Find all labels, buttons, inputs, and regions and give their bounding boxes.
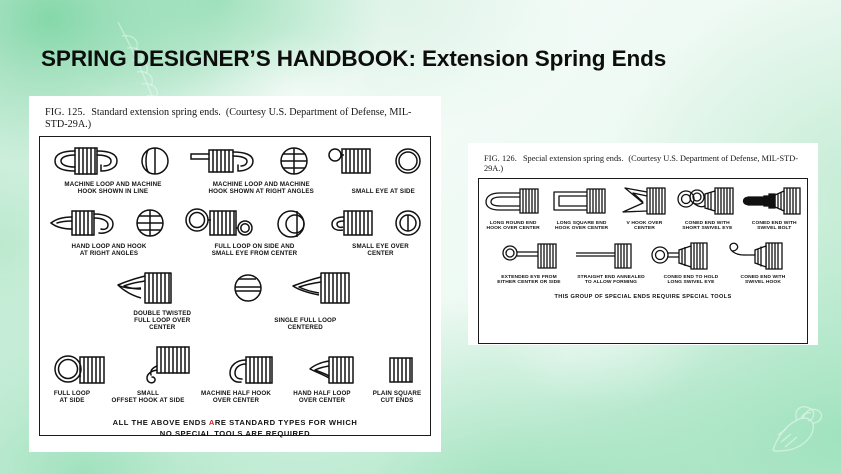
coned-end-short-swivel-eye-icon — [675, 184, 737, 218]
figure-item-straight-end-annealed — [573, 240, 635, 272]
plain-square-cut-ends-icon — [384, 352, 418, 388]
figure-item-small-eye-over-center-end-view — [391, 205, 425, 241]
long-square-end-hook-icon — [549, 184, 611, 218]
figure-label: CONED END WITH SWIVEL HOOK — [731, 275, 795, 286]
spring-end-view-offset-icon — [275, 205, 311, 241]
figure-item-hand-half-loop-over-center — [303, 352, 361, 388]
spring-end-view-blank-icon — [202, 268, 212, 308]
figure-item-coned-end-swivel-bolt — [742, 184, 804, 218]
small-offset-hook-at-side-icon — [135, 344, 199, 388]
figure-125-row-3-labels: DOUBLE TWISTED FULL LOOP OVER CENTER SIN… — [40, 309, 430, 332]
figure-126-caption: FIG. 126.Special extension spring ends.(… — [478, 151, 808, 178]
full-loop-on-side-icon — [178, 205, 264, 241]
figure-item-machine-half-hook-over-center — [222, 352, 280, 388]
figure-126-caption-title: Special extension spring ends. — [523, 154, 623, 163]
figure-item-machine-loop-hook-right-angles — [183, 143, 267, 179]
figure-125-footer-line2: NO SPECIAL TOOLS ARE REQUIRED — [160, 429, 310, 438]
figure-label: SMALL EYE AT SIDE — [337, 189, 430, 196]
figure-label: SMALL OFFSET HOOK AT SIDE — [105, 391, 191, 405]
figure-125-row-1-labels: MACHINE LOOP AND MACHINE HOOK SHOWN IN L… — [40, 180, 430, 196]
figure-label: SMALL EYE OVER CENTER — [333, 244, 429, 258]
figure-item-machine-loop-hook-in-line-end-view — [138, 143, 172, 179]
figure-125-row-1 — [40, 143, 430, 179]
figure-item-full-loop-on-side — [178, 205, 264, 241]
figure-125-box: MACHINE LOOP AND MACHINE HOOK SHOWN IN L… — [39, 136, 431, 436]
single-full-loop-centered-icon — [285, 268, 359, 308]
figure-label: LONG SQUARE END HOOK OVER CENTER — [550, 221, 613, 232]
spring-end-view-crossed-icon — [133, 205, 167, 241]
figure-label: CONED END WITH SHORT SWIVEL EYE — [676, 221, 739, 232]
coned-end-swivel-hook-icon — [724, 240, 786, 272]
figure-item-coned-end-swivel-hook — [724, 240, 786, 272]
figure-125-row-3 — [40, 268, 430, 308]
figure-125-footer-line1-a: ALL THE ABOVE ENDS — [113, 418, 209, 427]
figure-126-box: LONG ROUND END HOOK OVER CENTER LONG SQU… — [478, 178, 808, 344]
figure-label: STRAIGHT END ANNEALED TO ALLOW FORMING — [571, 275, 651, 286]
figure-label: EXTENDED EYE FROM EITHER CENTER OR SIDE — [491, 275, 567, 286]
figure-label: DOUBLE TWISTED FULL LOOP OVER CENTER — [110, 311, 215, 332]
figure-label: PLAIN SQUARE CUT ENDS — [365, 391, 429, 405]
figure-125-caption-number: FIG. 125. — [45, 107, 85, 118]
figure-item-long-square-end-hook — [549, 184, 611, 218]
figure-125-caption-title: Standard extension spring ends. — [91, 107, 221, 118]
figure-item-coned-end-long-swivel-eye — [649, 240, 711, 272]
figure-item-full-loop-at-side — [52, 352, 112, 388]
figure-125-footer: ALL THE ABOVE ENDS ARE STANDARD TYPES FO… — [40, 417, 430, 439]
coned-end-swivel-bolt-icon — [742, 184, 804, 218]
figure-label: MACHINE LOOP AND MACHINE HOOK SHOWN IN L… — [40, 182, 186, 196]
figure-item-v-hook-over-center — [617, 184, 669, 218]
hand-loop-hook-right-angles-icon — [46, 205, 122, 241]
figure-item-small-eye-over-center — [322, 205, 380, 241]
figure-item-single-full-loop-centered — [230, 268, 266, 308]
full-loop-at-side-icon — [52, 352, 112, 388]
coned-end-long-swivel-eye-icon — [649, 240, 711, 272]
figure-125-row-2 — [40, 205, 430, 241]
figure-label: LONG ROUND END HOOK OVER CENTER — [482, 221, 545, 232]
figure-126-footer: THIS GROUP OF SPECIAL ENDS REQUIRE SPECI… — [479, 293, 807, 301]
straight-end-annealed-icon — [573, 240, 635, 272]
small-eye-at-side-icon — [322, 143, 380, 179]
single-full-loop-centered-end-icon — [230, 268, 266, 308]
figure-item-single-full-loop-centered-side — [285, 268, 359, 308]
figure-125-panel: FIG. 125.Standard extension spring ends.… — [29, 96, 441, 452]
figure-item-extended-eye — [500, 240, 560, 272]
figure-label: FULL LOOP AT SIDE — [41, 391, 103, 405]
machine-loop-hook-in-line-icon — [45, 143, 127, 179]
machine-half-hook-over-center-icon — [222, 352, 280, 388]
double-twisted-full-loop-icon — [111, 268, 183, 308]
figure-label: HAND HALF LOOP OVER CENTER — [281, 391, 363, 405]
figure-item-small-eye-at-side — [322, 143, 380, 179]
figure-item-machine-loop-right-angles-end-view — [277, 143, 311, 179]
figure-item-double-twisted-full-loop — [111, 268, 183, 308]
figure-item-double-twisted-end-view — [202, 268, 212, 308]
figure-label: CONED END TO HOLD LONG SWIVEL EYE — [655, 275, 727, 286]
figure-label: HAND LOOP AND HOOK AT RIGHT ANGLES — [42, 244, 177, 258]
figure-label: CONED END WITH SWIVEL BOLT — [744, 221, 804, 232]
figure-item-plain-square-cut-ends — [384, 352, 418, 388]
figure-126-row-2 — [479, 240, 807, 272]
machine-loop-hook-right-angles-icon — [183, 143, 267, 179]
page-title: SPRING DESIGNER’S HANDBOOK: Extension Sp… — [41, 46, 666, 72]
figure-125-footer-line1-b: RE STANDARD TYPES FOR WHICH — [215, 418, 358, 427]
figure-125-row-4-labels: FULL LOOP AT SIDE SMALL OFFSET HOOK AT S… — [40, 389, 430, 405]
figure-item-small-offset-hook-at-side — [135, 344, 199, 388]
v-hook-over-center-icon — [617, 184, 669, 218]
spring-end-view-crossed-icon — [277, 143, 311, 179]
spring-end-view-ring-icon — [391, 143, 425, 179]
figure-126-caption-number: FIG. 126. — [484, 154, 517, 163]
figure-126-row-2-labels: EXTENDED EYE FROM EITHER CENTER OR SIDE … — [479, 273, 807, 286]
figure-126-row-1-labels: LONG ROUND END HOOK OVER CENTER LONG SQU… — [479, 219, 807, 232]
figure-label: MACHINE HALF HOOK OVER CENTER — [193, 391, 279, 405]
hand-half-loop-over-center-icon — [303, 352, 361, 388]
figure-label: MACHINE LOOP AND MACHINE HOOK SHOWN AT R… — [186, 182, 337, 196]
long-round-end-hook-icon — [482, 184, 544, 218]
spring-end-view-line-icon — [391, 205, 425, 241]
figure-item-full-loop-end-view — [275, 205, 311, 241]
figure-item-hand-loop-end-view — [133, 205, 167, 241]
figure-125-row-2-labels: HAND LOOP AND HOOK AT RIGHT ANGLES FULL … — [40, 242, 430, 258]
page-title-bold: SPRING DESIGNER’S HANDBOOK: — [41, 46, 416, 71]
figure-126-row-1 — [479, 184, 807, 218]
figure-125-caption: FIG. 125.Standard extension spring ends.… — [39, 104, 431, 136]
spring-end-view-icon — [138, 143, 172, 179]
figure-label: FULL LOOP ON SIDE AND SMALL EYE FROM CEN… — [180, 244, 330, 258]
figure-125-row-4 — [40, 344, 430, 388]
figure-item-long-round-end-hook — [482, 184, 544, 218]
extended-eye-icon — [500, 240, 560, 272]
figure-item-coned-end-short-swivel-eye — [675, 184, 737, 218]
figure-label: SINGLE FULL LOOP CENTERED — [250, 318, 360, 332]
figure-label: V HOOK OVER CENTER — [618, 221, 670, 232]
figure-item-hand-loop-hook-right-angles — [46, 205, 122, 241]
small-eye-over-center-icon — [322, 205, 380, 241]
figure-126-panel: FIG. 126.Special extension spring ends.(… — [468, 143, 818, 345]
figure-item-small-eye-end-view — [391, 143, 425, 179]
page-title-normal: Extension Spring Ends — [416, 46, 666, 71]
figure-item-machine-loop-hook-in-line — [45, 143, 127, 179]
